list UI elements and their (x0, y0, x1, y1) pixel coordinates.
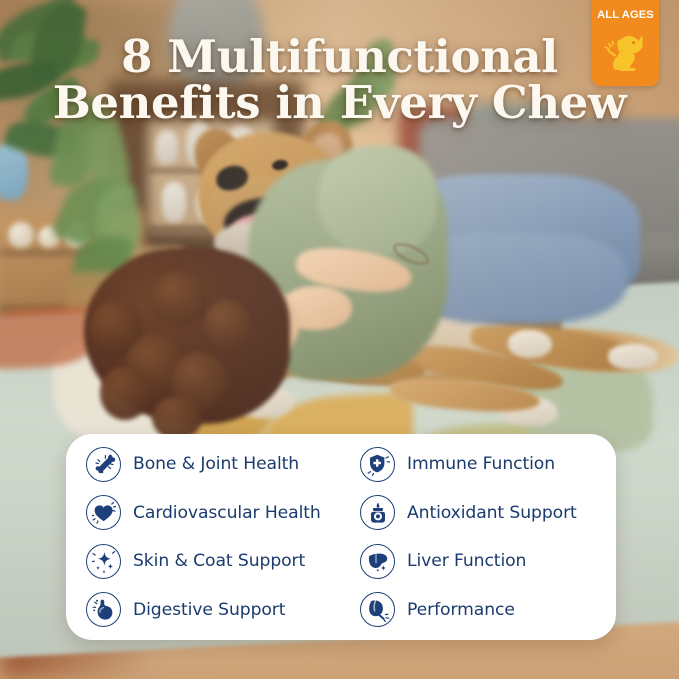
benefit-label: Antioxidant Support (407, 503, 577, 523)
benefit-label: Immune Function (407, 454, 555, 474)
product-benefits-poster: 8 Multifunctional Benefits in Every Chew… (0, 0, 679, 679)
all-ages-label: ALL AGES (597, 10, 654, 21)
hair-curl (204, 300, 250, 350)
liver-icon (360, 544, 395, 579)
benefit-label: Bone & Joint Health (133, 454, 299, 474)
shelf-vase (156, 130, 178, 164)
benefit-cardiovascular-health: Cardiovascular Health (66, 489, 338, 538)
benefit-label: Digestive Support (133, 600, 285, 620)
berry-icon (360, 495, 395, 530)
benefit-label: Cardiovascular Health (133, 503, 321, 523)
sitting-dog-icon (603, 27, 649, 73)
person-sleeve (318, 146, 436, 254)
decor-ball (8, 222, 34, 248)
hair-curl (100, 366, 150, 420)
sparkle-icon (86, 544, 121, 579)
benefit-performance: Performance (338, 586, 616, 635)
benefit-liver-function: Liver Function (338, 537, 616, 586)
benefit-label: Performance (407, 600, 515, 620)
benefit-label: Skin & Coat Support (133, 551, 305, 571)
muscle-icon (360, 592, 395, 627)
dog-paw (608, 344, 658, 370)
benefit-skin-coat-support: Skin & Coat Support (66, 537, 338, 586)
stomach-icon (86, 592, 121, 627)
headline-line-2: Benefits in Every Chew (26, 80, 653, 126)
heart-icon (86, 495, 121, 530)
benefit-immune-function: Immune Function (338, 440, 616, 489)
shield-plus-icon (360, 447, 395, 482)
hair-curl (150, 272, 208, 326)
page-title: 8 Multifunctional Benefits in Every Chew (0, 34, 679, 126)
dog-paw (508, 330, 552, 358)
shelf-vase (162, 182, 186, 222)
benefit-bone-joint-health: Bone & Joint Health (66, 440, 338, 489)
benefit-label: Liver Function (407, 551, 526, 571)
bone-icon (86, 447, 121, 482)
all-ages-badge: ALL AGES (592, 0, 659, 86)
headline-line-1: 8 Multifunctional (26, 34, 653, 80)
benefit-antioxidant-support: Antioxidant Support (338, 489, 616, 538)
benefit-digestive-support: Digestive Support (66, 586, 338, 635)
benefits-card: Bone & Joint Health (66, 434, 616, 640)
